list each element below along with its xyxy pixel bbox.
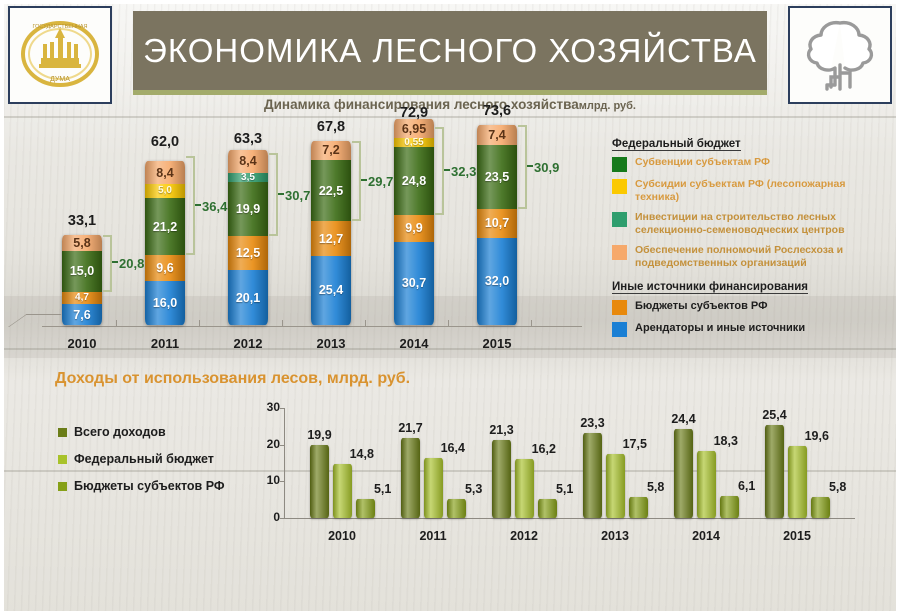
bar-value-2010-1: 14,8	[350, 447, 374, 461]
bar-value-2015-0: 25,4	[762, 408, 786, 422]
bar-value-2013-2: 5,8	[647, 480, 664, 494]
bar-value-2015-1: 19,6	[805, 429, 829, 443]
image-frame	[0, 0, 900, 615]
bar-value-2010-2: 5,1	[374, 482, 391, 496]
bar-value-2010-0: 19,9	[307, 428, 331, 442]
bar-value-2011-2: 5,3	[465, 482, 482, 496]
bar-value-2014-2: 6,1	[738, 479, 755, 493]
bar-value-2012-1: 16,2	[532, 442, 556, 456]
bar-value-2011-1: 16,4	[441, 441, 465, 455]
bar-value-2011-0: 21,7	[398, 421, 422, 435]
bar-value-2013-0: 23,3	[580, 416, 604, 430]
bar-value-2015-2: 5,8	[829, 480, 846, 494]
bar-value-2012-2: 5,1	[556, 482, 573, 496]
bar-value-2013-1: 17,5	[623, 437, 647, 451]
bar-value-2014-0: 24,4	[671, 412, 695, 426]
bar-value-2014-1: 18,3	[714, 434, 738, 448]
bar-value-2012-0: 21,3	[489, 423, 513, 437]
